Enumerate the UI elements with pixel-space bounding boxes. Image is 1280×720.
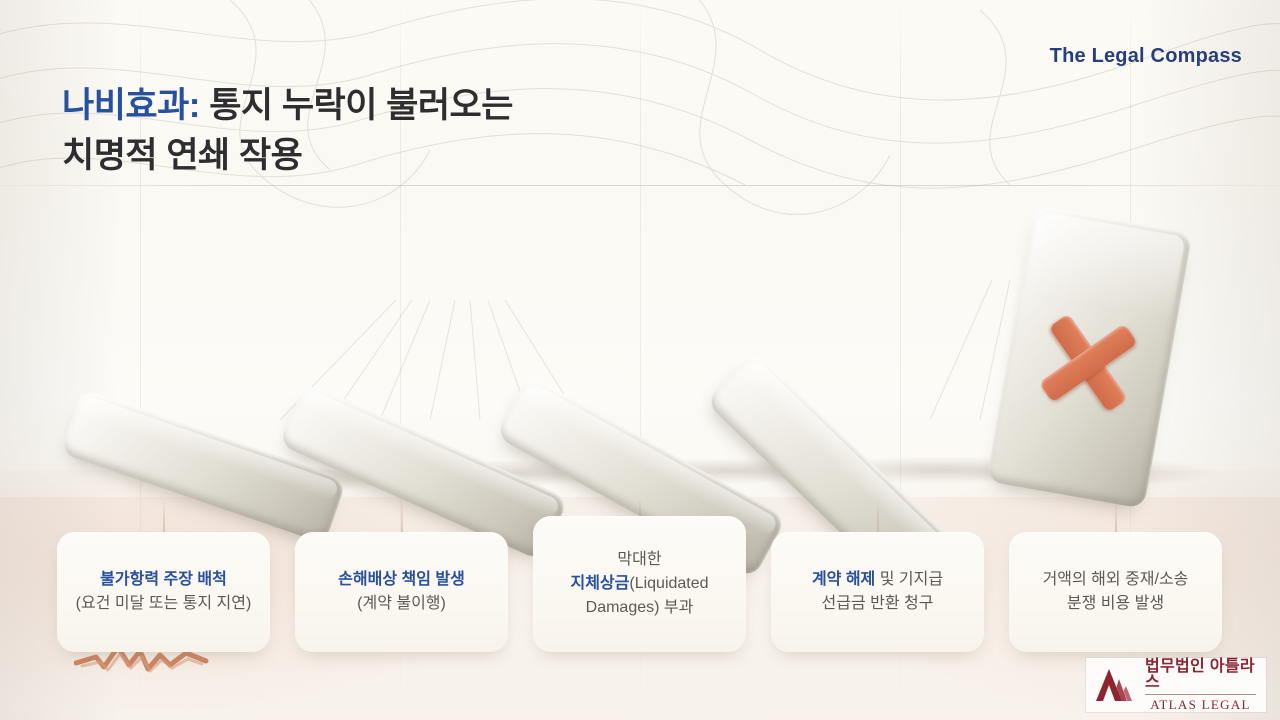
logo-divider xyxy=(1145,694,1256,695)
atlas-mountain-icon xyxy=(1096,667,1136,703)
card-3-line-2-rest: (Liquidated xyxy=(629,575,708,592)
card-1-line-1: 불가항력 주장 배척 xyxy=(100,568,227,592)
card-4-highlight: 계약 해제 xyxy=(812,571,875,588)
card-stem-2 xyxy=(401,498,403,532)
consequence-cards: 불가항력 주장 배척 (요건 미달 또는 통지 지연) 손해배상 책임 발생 (… xyxy=(0,0,1280,720)
card-stem-5 xyxy=(1115,498,1117,532)
card-5[interactable]: 거액의 해외 중재/소송 분쟁 비용 발생 xyxy=(1009,532,1222,652)
card-3-line-1: 막대한 xyxy=(617,548,661,572)
card-5-line-1: 거액의 해외 중재/소송 xyxy=(1043,568,1189,592)
card-stem-4 xyxy=(877,498,879,532)
card-4-line-1: 계약 해제 및 기지급 xyxy=(812,568,943,592)
card-2[interactable]: 손해배상 책임 발생 (계약 불이행) xyxy=(295,532,508,652)
slide-root: 나비효과: 통지 누락이 불러오는 치명적 연쇄 작용 The Legal Co… xyxy=(0,0,1280,720)
card-3-highlight: 지체상금 xyxy=(570,575,629,592)
card-4-line-1-rest: 및 기지급 xyxy=(875,571,943,588)
card-3-line-2: 지체상금(Liquidated xyxy=(570,572,708,596)
logo-text: 법무법인 아틀라스 ATLAS LEGAL xyxy=(1145,659,1256,711)
logo-korean-name: 법무법인 아틀라스 xyxy=(1145,659,1256,694)
card-5-line-2: 분쟁 비용 발생 xyxy=(1067,592,1164,616)
card-3-line-3: Damages) 부과 xyxy=(586,596,694,620)
card-1-line-2: (요건 미달 또는 통지 지연) xyxy=(76,592,252,616)
footer-logo: 법무법인 아틀라스 ATLAS LEGAL xyxy=(1086,658,1266,712)
card-2-line-1: 손해배상 책임 발생 xyxy=(338,568,465,592)
card-2-line-2: (계약 불이행) xyxy=(357,592,446,616)
card-3[interactable]: 막대한 지체상금(Liquidated Damages) 부과 xyxy=(533,516,746,652)
card-stem-1 xyxy=(163,498,165,532)
card-4-line-2: 선급금 반환 청구 xyxy=(822,592,934,616)
card-1[interactable]: 불가항력 주장 배척 (요건 미달 또는 통지 지연) xyxy=(57,532,270,652)
logo-english-name: ATLAS LEGAL xyxy=(1145,698,1256,711)
card-4[interactable]: 계약 해제 및 기지급 선급금 반환 청구 xyxy=(771,532,984,652)
card-stem-3 xyxy=(639,498,641,516)
